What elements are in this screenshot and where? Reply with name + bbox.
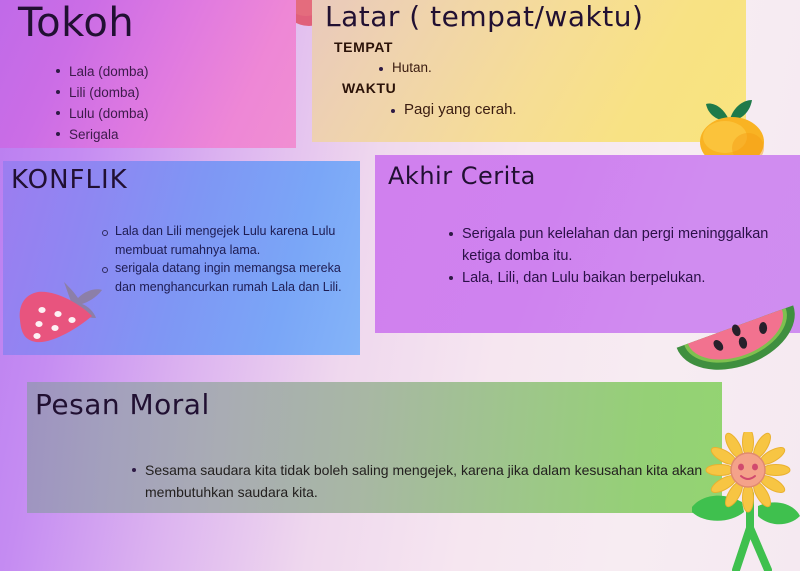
pesan-moral-title: Pesan Moral [35, 391, 722, 419]
tokoh-list: Lala (domba) Lili (domba) Lulu (domba) S… [55, 61, 296, 145]
latar-waktu-label: WAKTU [342, 80, 746, 96]
list-item: Serigala [55, 124, 296, 145]
list-item: Lala, Lili, dan Lulu baikan berpelukan. [448, 267, 800, 289]
list-item: serigala datang ingin memangsa mereka da… [101, 259, 351, 296]
list-item: Lulu (domba) [55, 103, 296, 124]
section-akhir-cerita: Akhir Cerita Serigala pun kelelahan dan … [375, 155, 800, 333]
list-item: Serigala pun kelelahan dan pergi meningg… [448, 223, 800, 267]
latar-title: Latar ( tempat/waktu) [325, 3, 746, 31]
akhir-cerita-title: Akhir Cerita [388, 164, 800, 188]
list-item: Sesama saudara kita tidak boleh saling m… [131, 459, 711, 503]
konflik-list: Lala dan Lili mengejek Lulu karena Lulu … [101, 222, 351, 296]
akhir-cerita-list: Serigala pun kelelahan dan pergi meningg… [448, 223, 800, 289]
list-item: Pagi yang cerah. [390, 100, 746, 119]
section-konflik: KONFLIK Lala dan Lili mengejek Lulu kare… [3, 161, 360, 355]
section-pesan-moral: Pesan Moral Sesama saudara kita tidak bo… [27, 382, 722, 513]
section-latar: Latar ( tempat/waktu) TEMPAT Hutan. WAKT… [312, 0, 746, 142]
list-item: Lala dan Lili mengejek Lulu karena Lulu … [101, 222, 351, 259]
section-tokoh: Tokoh Lala (domba) Lili (domba) Lulu (do… [0, 0, 296, 148]
pesan-moral-list: Sesama saudara kita tidak boleh saling m… [131, 459, 711, 503]
tokoh-title: Tokoh [18, 3, 296, 43]
list-item: Hutan. [378, 59, 746, 77]
latar-tempat-list: Hutan. [378, 59, 746, 77]
list-item: Lili (domba) [55, 82, 296, 103]
latar-waktu-list: Pagi yang cerah. [390, 100, 746, 119]
list-item: Lala (domba) [55, 61, 296, 82]
konflik-title: KONFLIK [11, 167, 360, 193]
latar-tempat-label: TEMPAT [334, 39, 746, 55]
